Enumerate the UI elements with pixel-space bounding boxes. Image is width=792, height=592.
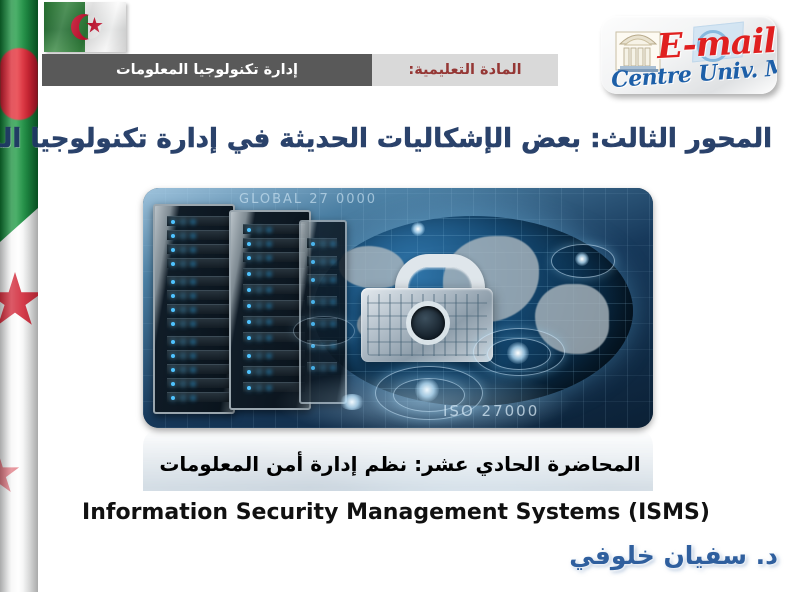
light-spark: [575, 252, 589, 266]
lecture-title-arabic: المحاضرة الحادي عشر: نظم إدارة أمن المعل…: [120, 452, 680, 476]
chapter-title: المحور الثالث: بعض الإشكاليات الحديثة في…: [44, 124, 772, 154]
subject-value-text: إدارة تكنولوجيا المعلومات: [116, 62, 298, 78]
lecture-title-english: Information Security Management Systems …: [46, 500, 746, 525]
algeria-flag-icon: [44, 2, 126, 52]
flag-sheen-overlay: [0, 0, 38, 592]
subject-label-text: المادة التعليمية:: [408, 62, 521, 78]
flag-icon-wave-shading: [44, 2, 126, 52]
hero-glow: [273, 368, 573, 428]
light-spark: [411, 222, 425, 236]
hero-image-container: GLOBAL 27 0000 ISO 27000 ISO 27000: [143, 188, 653, 428]
security-illustration: GLOBAL 27 0000 ISO 27000: [143, 188, 653, 428]
signal-ring: [293, 316, 355, 346]
university-email-logo: E-mail Centre Univ. Mila: [601, 16, 777, 94]
slide-canvas: إدارة تكنولوجيا المعلومات المادة التعليم…: [0, 0, 792, 592]
subject-value-band: إدارة تكنولوجيا المعلومات: [42, 54, 372, 86]
author-signature: د. سفيان خلوفي: [569, 541, 778, 570]
server-rack: [153, 204, 235, 414]
padlock-keyhole-icon: [411, 306, 445, 340]
algeria-flag-strip-decoration: [0, 0, 38, 592]
light-spark: [507, 342, 529, 364]
subject-label-band: المادة التعليمية:: [372, 54, 558, 86]
hero-overlay-text-top: GLOBAL 27 0000: [239, 192, 377, 207]
